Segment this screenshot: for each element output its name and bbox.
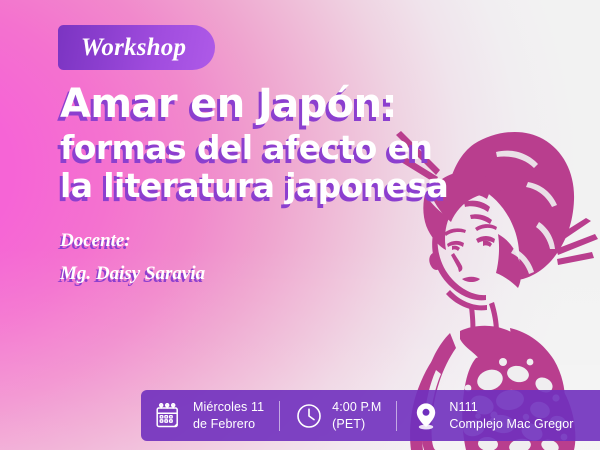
workshop-badge: Workshop xyxy=(58,25,215,70)
info-bar: Miércoles 11 de Febrero 4:00 P.M (PET) xyxy=(141,390,600,441)
info-date-line-2: de Febrero xyxy=(193,417,255,431)
info-place-text: N111 Complejo Mac Gregor xyxy=(449,399,573,432)
location-pin-icon xyxy=(412,401,440,431)
page-title: Amar en Japón: formas del afecto en la l… xyxy=(60,84,490,202)
workshop-badge-label: Workshop xyxy=(81,34,192,62)
divider-2 xyxy=(396,401,397,431)
info-time-line-2: (PET) xyxy=(332,417,365,431)
instructor-name: Mg. Daisy Saravia xyxy=(60,263,380,285)
info-item-place: N111 Complejo Mac Gregor xyxy=(412,390,573,441)
info-time-line-1: 4:00 P.M xyxy=(332,400,381,414)
info-date-line-1: Miércoles 11 xyxy=(193,400,264,414)
poster-canvas: Workshop Amar en Japón: formas del afect… xyxy=(0,0,600,450)
instructor-block: Docente: Mg. Daisy Saravia xyxy=(60,230,380,285)
info-date-text: Miércoles 11 de Febrero xyxy=(193,399,264,432)
title-line-2: formas del afecto en xyxy=(60,131,490,164)
instructor-label: Docente: xyxy=(60,230,380,252)
title-line-3: la literatura japonesa xyxy=(60,169,490,202)
info-place-line-2: Complejo Mac Gregor xyxy=(449,417,573,431)
calendar-icon xyxy=(153,401,181,431)
divider-1 xyxy=(279,401,280,431)
info-item-date: Miércoles 11 de Febrero xyxy=(153,390,264,441)
info-place-line-1: N111 xyxy=(449,400,477,414)
info-item-time: 4:00 P.M (PET) xyxy=(295,390,381,441)
title-line-1: Amar en Japón: xyxy=(60,84,490,124)
info-time-text: 4:00 P.M (PET) xyxy=(332,399,381,432)
clock-icon xyxy=(295,401,323,431)
